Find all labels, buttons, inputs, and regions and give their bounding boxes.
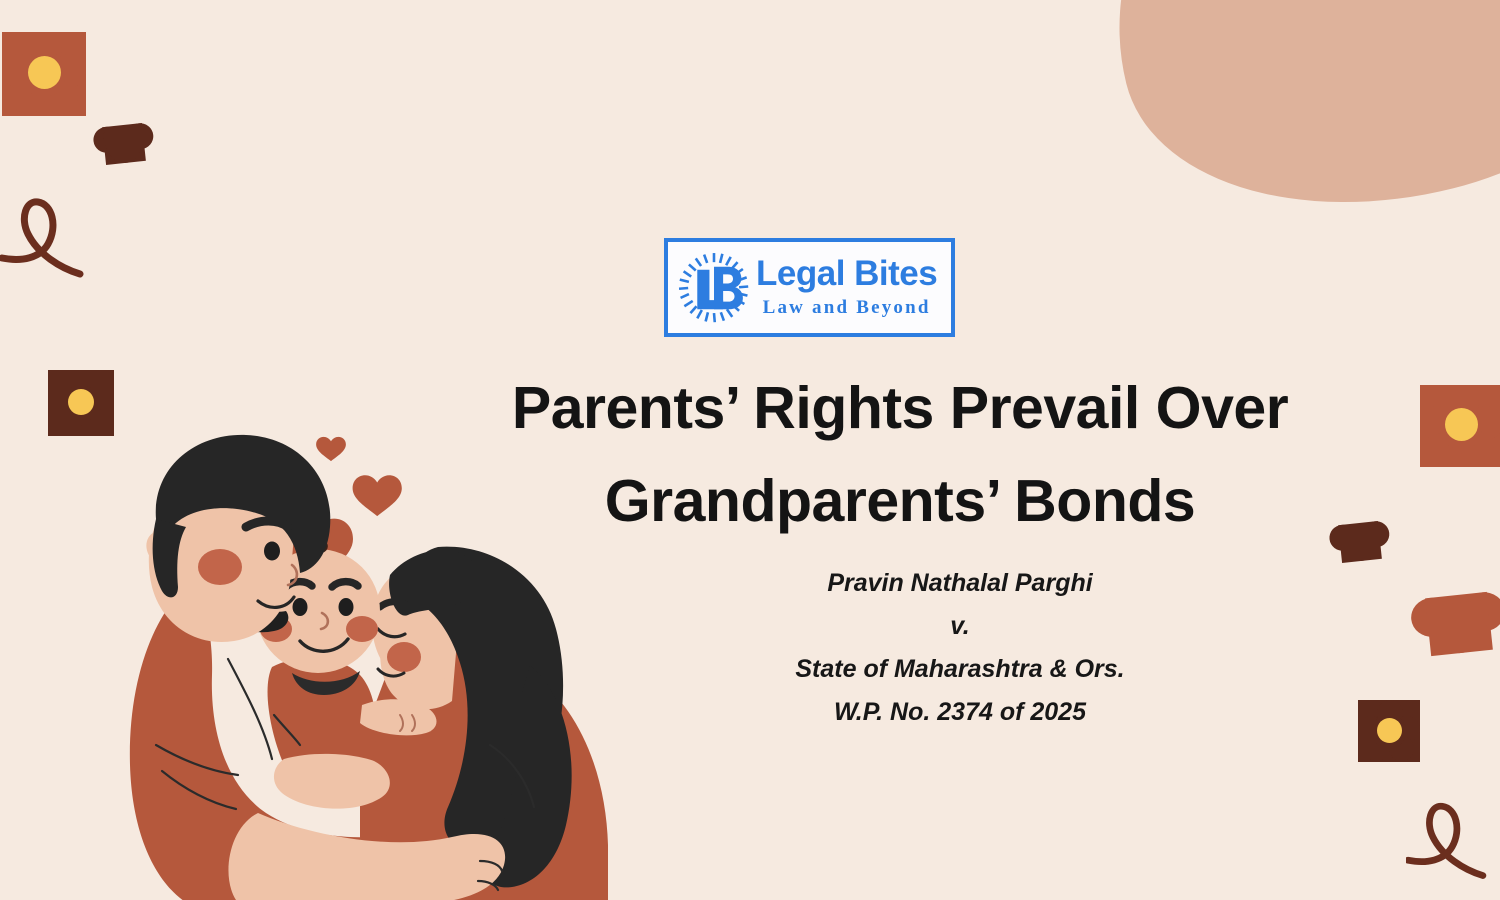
case-citation: Pravin Nathalal Parghi v. State of Mahar… — [640, 562, 1280, 734]
case-number: W.P. No. 2374 of 2025 — [640, 691, 1280, 734]
flower-bottom-right-icon — [1358, 700, 1420, 762]
loop-squiggle-bottom-right-icon — [1406, 792, 1500, 888]
headline-line-1: Parents’ Rights Prevail Over — [420, 362, 1380, 455]
background-blob-top-right — [1066, 0, 1500, 259]
heart-right-lower-icon — [1425, 592, 1493, 656]
logo-tagline: Law and Beyond — [756, 296, 937, 320]
flower-right-mid-icon — [1420, 385, 1500, 467]
case-respondent: State of Maharashtra & Ors. — [640, 648, 1280, 691]
legal-bites-logo[interactable]: Legal Bites Law and Beyond — [664, 238, 955, 337]
poster-canvas: Legal Bites Law and Beyond Parents’ Righ… — [0, 0, 1500, 900]
headline-line-2: Grandparents’ Bonds — [420, 455, 1380, 548]
loop-squiggle-left-icon — [0, 188, 104, 286]
heart-top-left-icon — [102, 123, 146, 165]
logo-name: Legal Bites — [756, 256, 937, 291]
case-versus: v. — [640, 605, 1280, 648]
logo-wordmark: Legal Bites Law and Beyond — [756, 256, 937, 320]
page-title: Parents’ Rights Prevail Over Grandparent… — [420, 362, 1380, 548]
case-petitioner: Pravin Nathalal Parghi — [640, 562, 1280, 605]
flower-top-left-icon — [2, 32, 86, 116]
lb-monogram-icon — [676, 250, 752, 326]
